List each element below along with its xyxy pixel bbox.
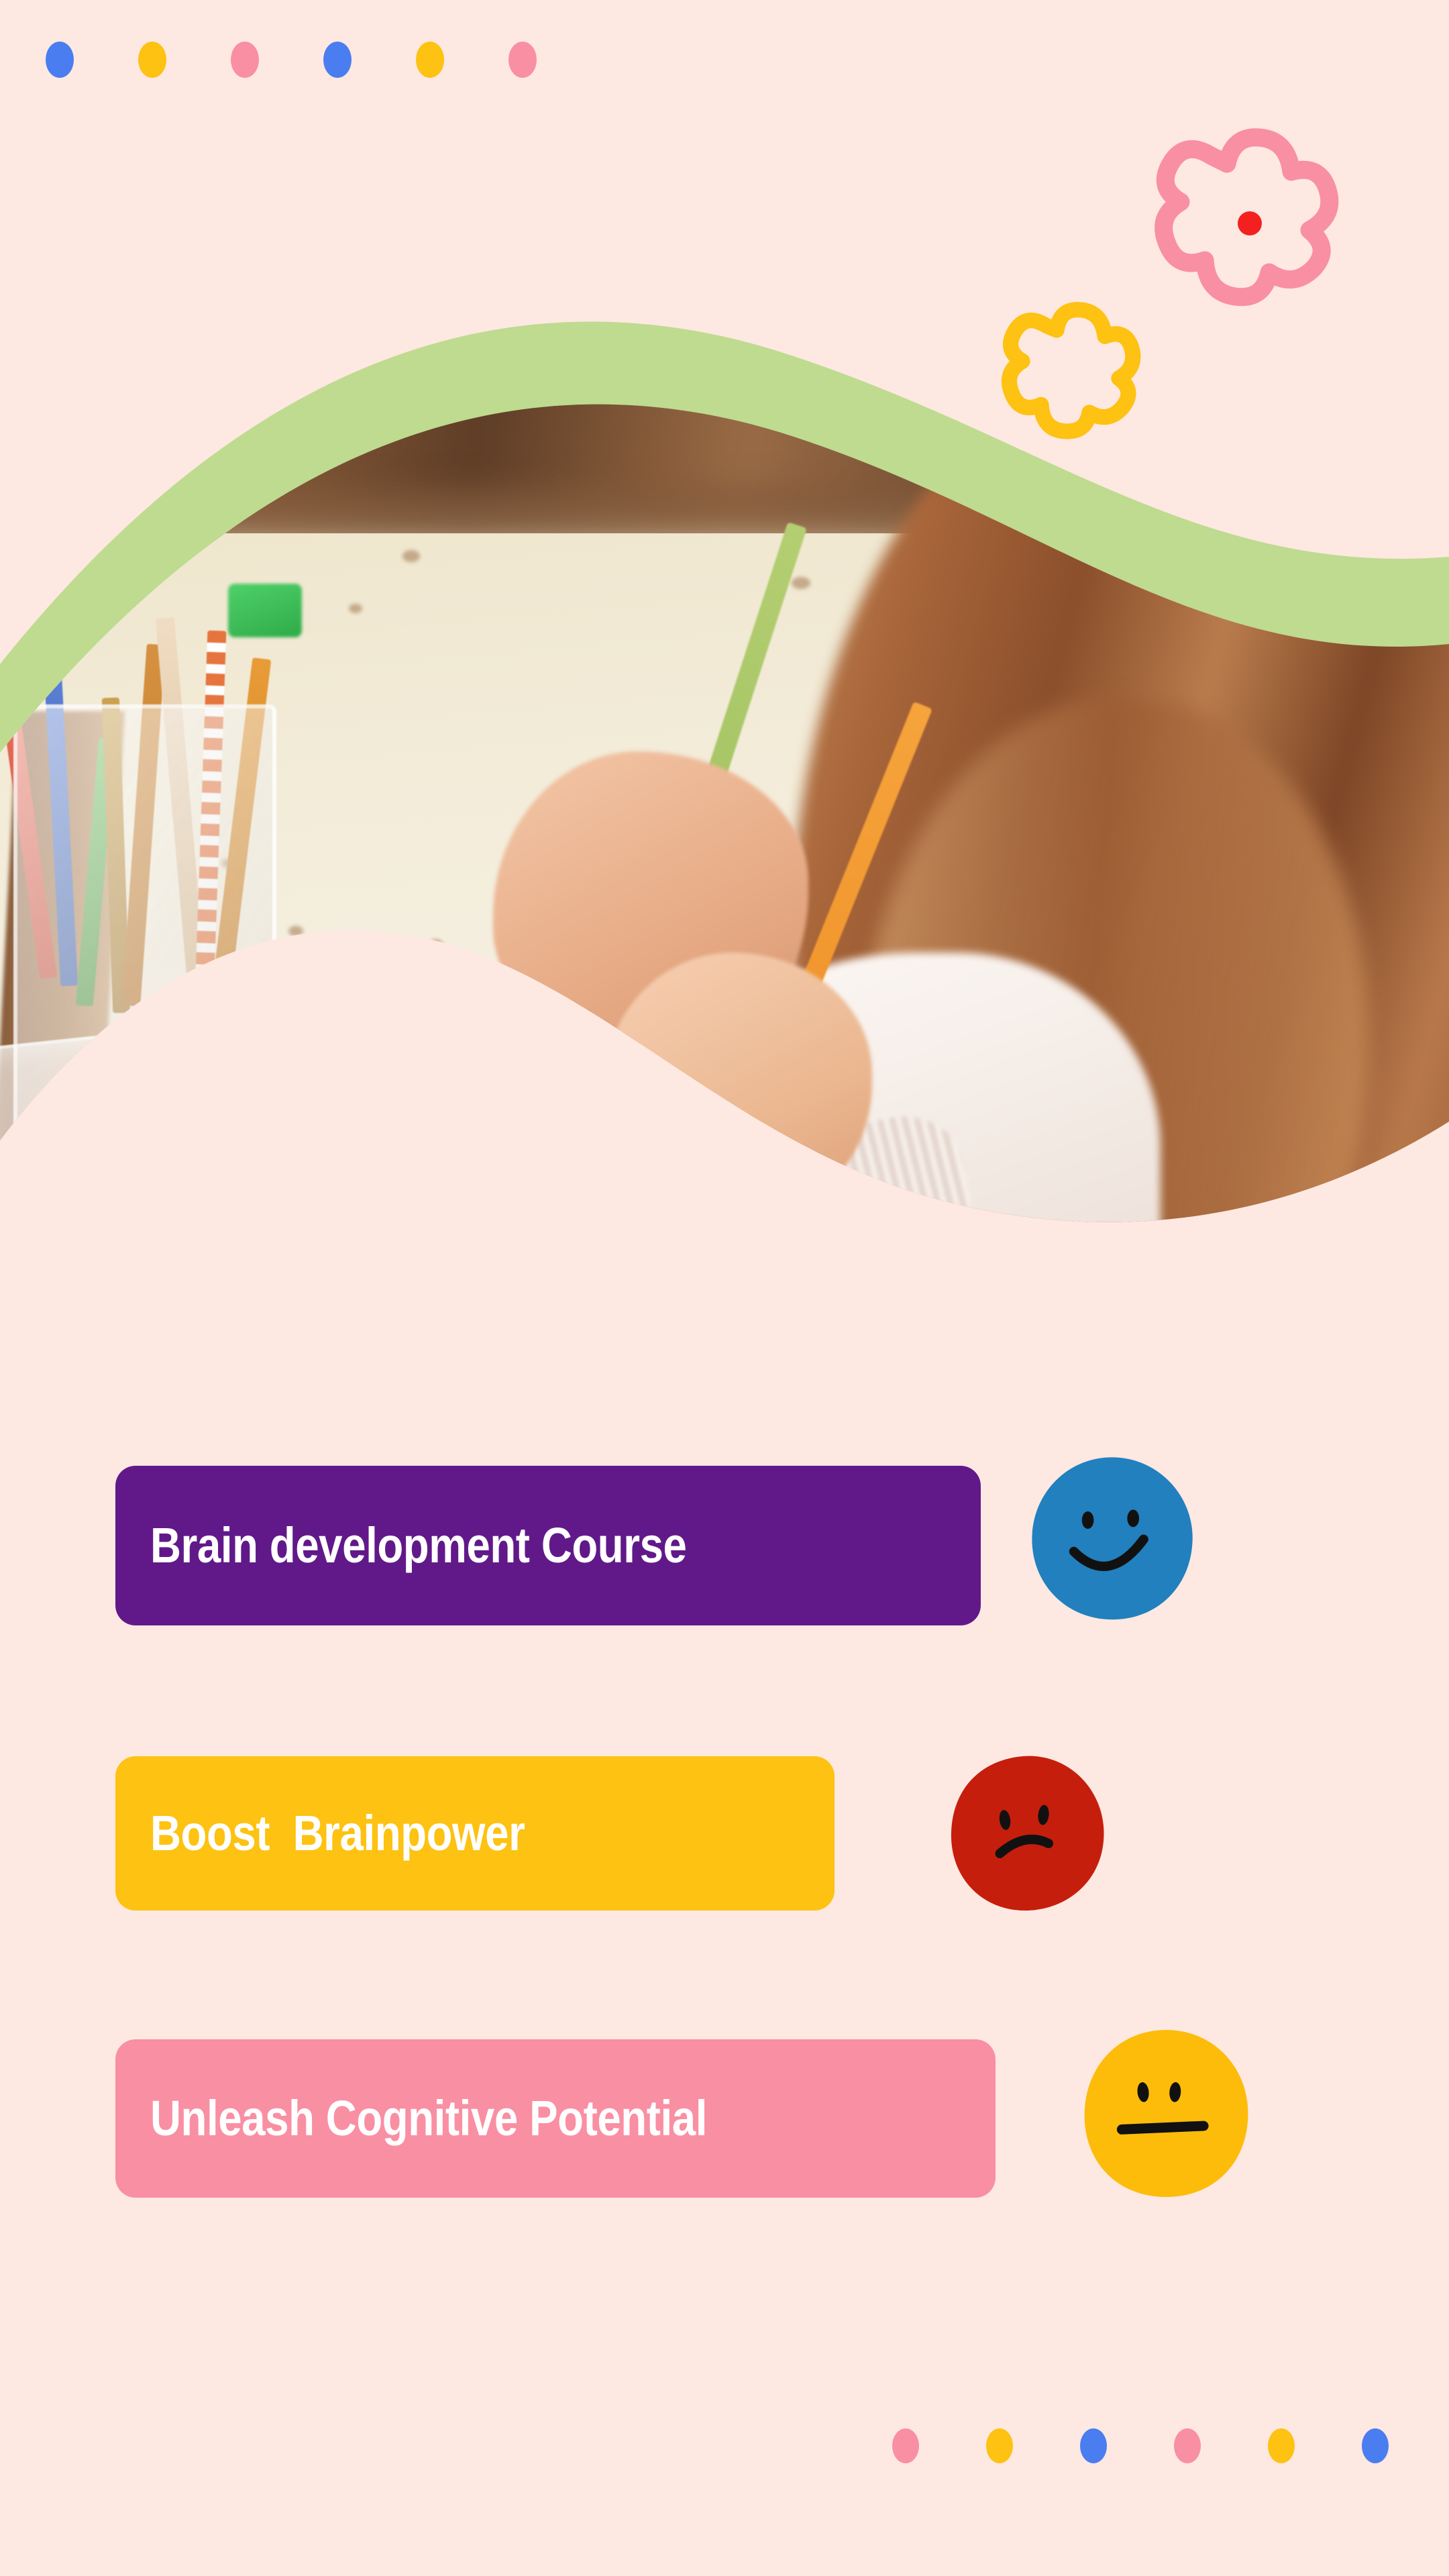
bottom-dot-row	[892, 2428, 1449, 2463]
top-dot-row	[46, 42, 601, 78]
smiley-face-blue-icon	[1025, 1450, 1199, 1625]
sad-face-red-icon	[945, 1750, 1112, 1917]
list-item: Brain development Course	[0, 1422, 1449, 1711]
dot-pink-3	[892, 2428, 919, 2463]
dot-blue-4	[1362, 2428, 1389, 2463]
dot-blue-1	[46, 42, 74, 78]
feature-pill-unleash-cognitive-potential[interactable]: Unleash Cognitive Potential	[115, 2039, 996, 2198]
photo-crumb	[792, 577, 810, 589]
dot-pink-2	[508, 42, 537, 78]
feature-list: Brain development Course Boost Brainpowe…	[0, 1422, 1449, 2288]
photo-crumb	[402, 550, 420, 562]
dot-blue-2	[323, 42, 352, 78]
feature-pill-brain-development-course[interactable]: Brain development Course	[115, 1466, 981, 1625]
dot-pink-1	[231, 42, 259, 78]
list-item: Unleash Cognitive Potential	[0, 1999, 1449, 2288]
neutral-face-yellow-icon	[1077, 2025, 1255, 2202]
dot-pink-4	[1174, 2428, 1201, 2463]
photo-green-sharpener	[228, 584, 302, 637]
hero-photo	[0, 268, 1449, 1375]
flower-center-dot	[1238, 211, 1262, 235]
feature-label: Brain development Course	[150, 1521, 687, 1570]
feature-label: Boost Brainpower	[150, 1809, 525, 1858]
dot-yellow-1	[138, 42, 166, 78]
dot-blue-3	[1080, 2428, 1107, 2463]
feature-label: Unleash Cognitive Potential	[150, 2094, 707, 2143]
dot-yellow-3	[986, 2428, 1013, 2463]
list-item: Boost Brainpower	[0, 1711, 1449, 1999]
dot-yellow-2	[416, 42, 444, 78]
dot-yellow-4	[1268, 2428, 1295, 2463]
photo-crumb	[349, 604, 362, 613]
feature-pill-boost-brainpower[interactable]: Boost Brainpower	[115, 1756, 835, 1911]
poster-canvas: Brain development Course Boost Brainpowe…	[0, 0, 1449, 2576]
